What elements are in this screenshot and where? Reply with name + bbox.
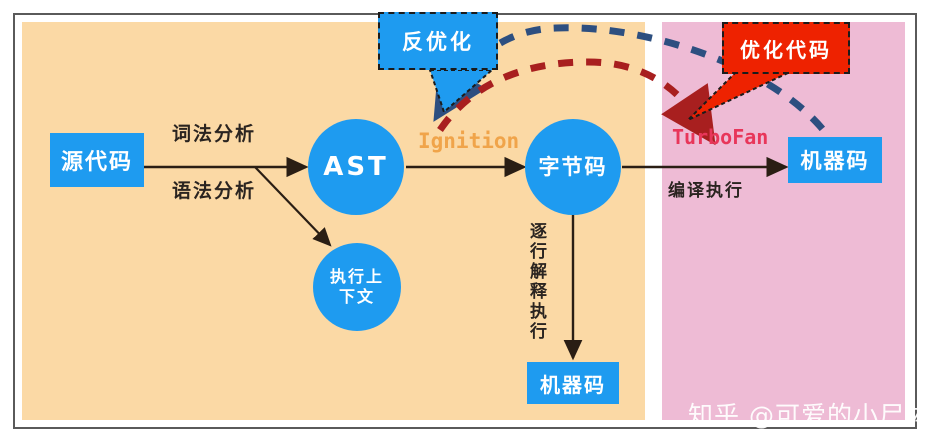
label-syntax-analysis: 语法分析 — [172, 176, 256, 203]
callout-deoptimize-label: 反优化 — [402, 26, 474, 56]
node-bytecode-label: 字节码 — [539, 154, 608, 180]
node-machine-code-compiled[interactable]: 机器码 — [788, 137, 882, 183]
label-ignition: Ignition — [418, 129, 519, 153]
label-line-by-line-interpretation: 逐行解释执行 — [527, 222, 544, 342]
node-bytecode[interactable]: 字节码 — [525, 119, 621, 215]
label-lexical-analysis: 词法分析 — [172, 119, 256, 146]
watermark: 知乎 @可爱的小尸体 — [688, 396, 931, 432]
diagram-canvas: 反优化 优化代码 源代码 AST 执行上 下文 字节码 机器码 机器码 词法分析… — [0, 0, 932, 444]
node-ast-label: AST — [323, 151, 389, 184]
node-execution-context-line2: 下文 — [339, 287, 375, 307]
callout-optimize-label: 优化代码 — [740, 34, 832, 63]
label-compile-execute: 编译执行 — [668, 176, 744, 201]
label-turbofan: TurboFan — [672, 125, 768, 149]
node-machine-code-compiled-label: 机器码 — [801, 145, 870, 175]
node-source-code-label: 源代码 — [61, 144, 133, 176]
callout-deoptimize[interactable]: 反优化 — [378, 12, 498, 70]
node-source-code[interactable]: 源代码 — [50, 133, 144, 187]
node-execution-context[interactable]: 执行上 下文 — [313, 243, 401, 331]
node-ast[interactable]: AST — [308, 119, 404, 215]
node-execution-context-line1: 执行上 — [330, 267, 384, 287]
callout-optimize[interactable]: 优化代码 — [722, 22, 850, 74]
node-machine-code-interpreted-label: 机器码 — [540, 369, 606, 398]
node-machine-code-interpreted[interactable]: 机器码 — [527, 362, 619, 404]
